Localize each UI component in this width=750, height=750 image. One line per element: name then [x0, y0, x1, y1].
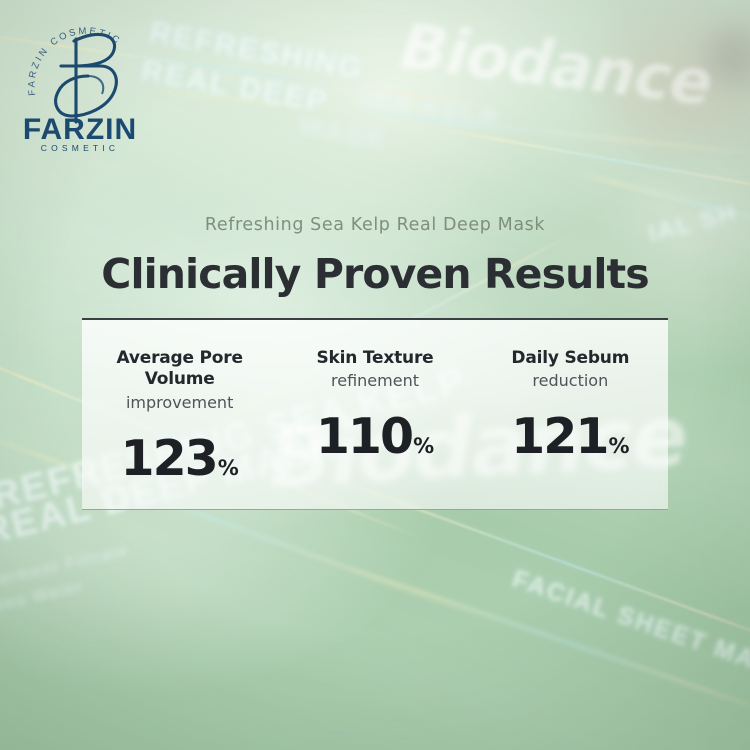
background-vignette — [0, 0, 750, 750]
poster-canvas: REFRESHING REAL DEEP SEA KELP MASK Bioda… — [0, 0, 750, 750]
